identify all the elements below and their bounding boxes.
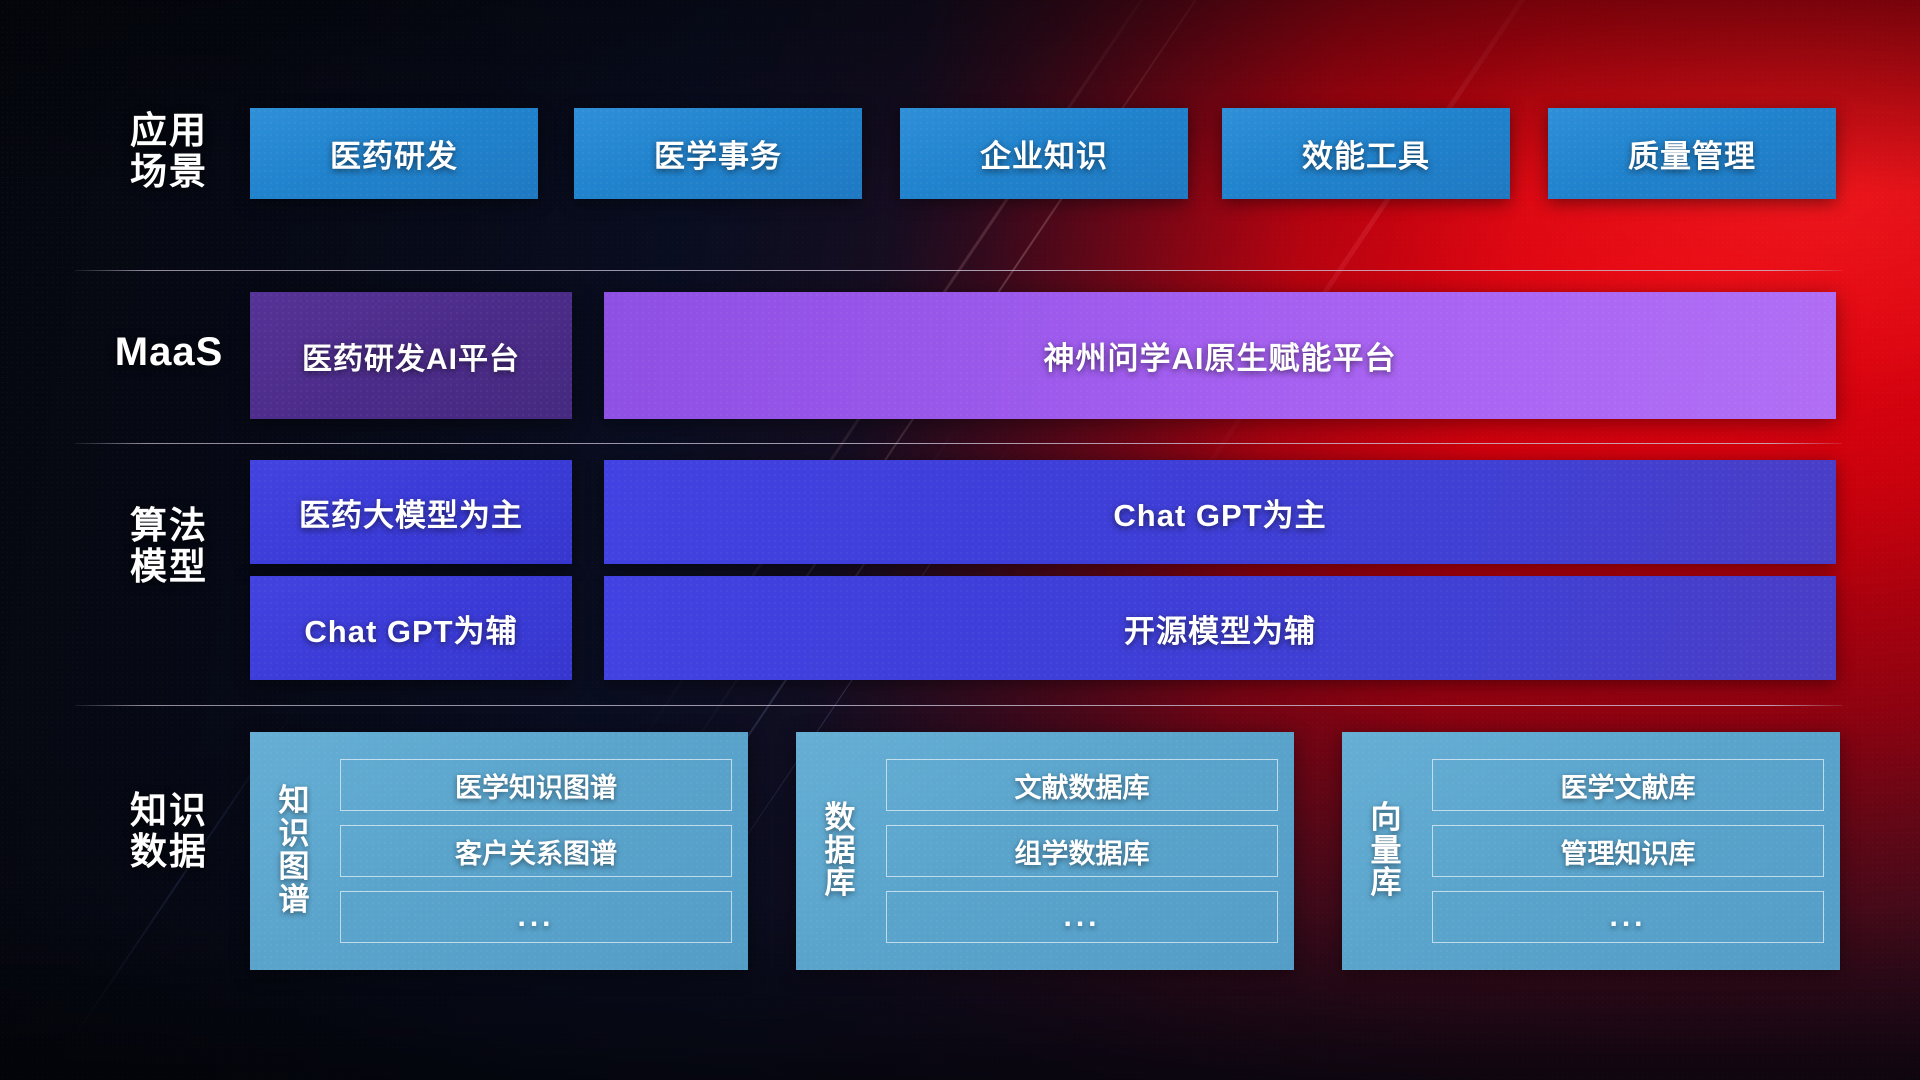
app-card-label: 医药研发: [330, 131, 458, 176]
algo-card-label: Chat GPT为辅: [304, 606, 517, 651]
app-card-medicine-rd[interactable]: 医药研发: [250, 108, 538, 199]
maas-card-label: 医药研发AI平台: [302, 334, 520, 378]
knowledge-group-title: 知 识 图 谱: [262, 785, 326, 916]
maas-card-label: 神州问学AI原生赋能平台: [1044, 333, 1397, 378]
divider-after-algorithm-row: [75, 705, 1842, 706]
app-card-label: 质量管理: [1628, 131, 1756, 176]
knowledge-group-title-char: 量: [1354, 835, 1418, 868]
knowledge-group-items: 医学文献库 管理知识库 ...: [1432, 759, 1824, 943]
knowledge-group-title-char: 谱: [262, 884, 326, 917]
knowledge-item-more[interactable]: ...: [340, 891, 732, 943]
row-label-line: 算法: [78, 505, 260, 546]
knowledge-item[interactable]: 客户关系图谱: [340, 825, 732, 877]
knowledge-group-title-char: 库: [808, 867, 872, 900]
knowledge-group-title-char: 库: [1354, 867, 1418, 900]
knowledge-group-knowledge-graph[interactable]: 知 识 图 谱 医学知识图谱 客户关系图谱 ...: [250, 732, 748, 970]
algo-card-label: 开源模型为辅: [1124, 606, 1316, 651]
knowledge-group-title-char: 据: [808, 835, 872, 868]
knowledge-item[interactable]: 医学文献库: [1432, 759, 1824, 811]
knowledge-group-title-char: 图: [262, 851, 326, 884]
row-label-line: 模型: [78, 546, 260, 587]
knowledge-group-title-char: 向: [1354, 802, 1418, 835]
knowledge-group-title: 数 据 库: [808, 802, 872, 901]
knowledge-item[interactable]: 医学知识图谱: [340, 759, 732, 811]
row-label-algorithm-model: 算法 模型: [78, 505, 260, 588]
knowledge-group-title-char: 知: [262, 785, 326, 818]
knowledge-item-more[interactable]: ...: [1432, 891, 1824, 943]
algo-card-chatgpt-secondary[interactable]: Chat GPT为辅: [250, 576, 572, 680]
row-label-line: 数据: [78, 831, 260, 872]
divider-after-maas-row: [75, 443, 1842, 444]
row-label-maas: MaaS: [78, 330, 260, 375]
maas-card-shenzhou-wenxue-platform[interactable]: 神州问学AI原生赋能平台: [604, 292, 1836, 419]
app-card-enterprise-knowledge[interactable]: 企业知识: [900, 108, 1188, 199]
app-card-label: 企业知识: [980, 131, 1108, 176]
app-card-efficiency-tools[interactable]: 效能工具: [1222, 108, 1510, 199]
knowledge-group-items: 文献数据库 组学数据库 ...: [886, 759, 1278, 943]
algo-card-opensource-model-secondary[interactable]: 开源模型为辅: [604, 576, 1836, 680]
row-label-application-scenarios: 应用 场景: [78, 110, 260, 193]
knowledge-group-database[interactable]: 数 据 库 文献数据库 组学数据库 ...: [796, 732, 1294, 970]
divider-after-application-row: [75, 270, 1842, 271]
knowledge-group-title-char: 数: [808, 802, 872, 835]
architecture-diagram: 应用 场景 医药研发 医学事务 企业知识 效能工具 质量管理 MaaS 医药研发…: [0, 0, 1920, 1080]
app-card-medical-affairs[interactable]: 医学事务: [574, 108, 862, 199]
row-label-line: 知识: [78, 790, 260, 831]
algo-card-label: 医药大模型为主: [299, 490, 523, 535]
algo-card-medicine-large-model-primary[interactable]: 医药大模型为主: [250, 460, 572, 564]
app-card-label: 效能工具: [1302, 131, 1430, 176]
algo-card-label: Chat GPT为主: [1113, 490, 1326, 535]
knowledge-group-title: 向 量 库: [1354, 802, 1418, 901]
row-label-knowledge-data: 知识 数据: [78, 790, 260, 873]
row-label-line: 场景: [78, 151, 260, 192]
row-label-line: MaaS: [78, 330, 260, 375]
knowledge-group-vector-store[interactable]: 向 量 库 医学文献库 管理知识库 ...: [1342, 732, 1840, 970]
knowledge-group-items: 医学知识图谱 客户关系图谱 ...: [340, 759, 732, 943]
row-label-line: 应用: [78, 110, 260, 151]
knowledge-group-title-char: 识: [262, 818, 326, 851]
knowledge-item[interactable]: 文献数据库: [886, 759, 1278, 811]
algo-card-chatgpt-primary[interactable]: Chat GPT为主: [604, 460, 1836, 564]
app-card-label: 医学事务: [654, 131, 782, 176]
knowledge-item[interactable]: 组学数据库: [886, 825, 1278, 877]
knowledge-item-more[interactable]: ...: [886, 891, 1278, 943]
app-card-quality-management[interactable]: 质量管理: [1548, 108, 1836, 199]
maas-card-medicine-rd-ai-platform[interactable]: 医药研发AI平台: [250, 292, 572, 419]
knowledge-item[interactable]: 管理知识库: [1432, 825, 1824, 877]
